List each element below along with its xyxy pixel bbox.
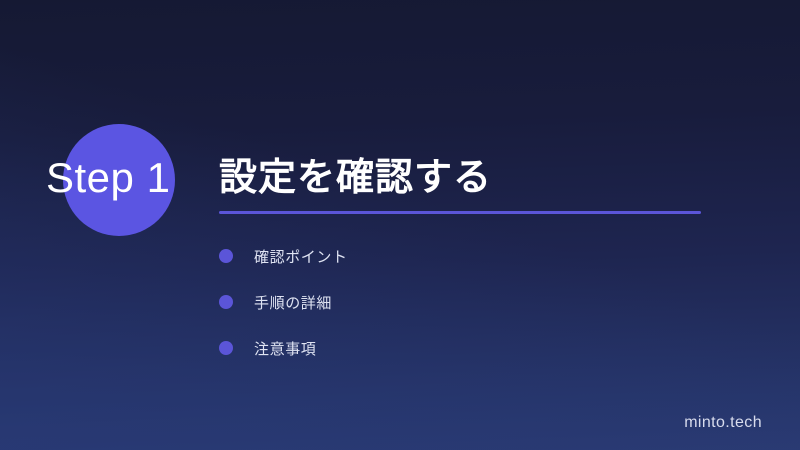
list-item: 手順の詳細 xyxy=(219,279,348,325)
bullet-dot-icon xyxy=(219,295,233,309)
bullet-label: 確認ポイント xyxy=(254,246,348,267)
step-label: Step 1 xyxy=(46,152,216,204)
title-divider xyxy=(219,211,701,214)
slide-canvas: Step 1 設定を確認する 確認ポイント 手順の詳細 注意事項 minto.t… xyxy=(0,0,800,450)
list-item: 確認ポイント xyxy=(219,233,348,279)
page-title: 設定を確認する xyxy=(219,146,492,201)
bullet-list: 確認ポイント 手順の詳細 注意事項 xyxy=(219,233,348,371)
bullet-dot-icon xyxy=(219,249,233,263)
bullet-label: 注意事項 xyxy=(254,338,316,359)
list-item: 注意事項 xyxy=(219,325,348,371)
bullet-label: 手順の詳細 xyxy=(254,292,332,313)
bullet-dot-icon xyxy=(219,341,233,355)
footer-brand: minto.tech xyxy=(684,414,762,432)
